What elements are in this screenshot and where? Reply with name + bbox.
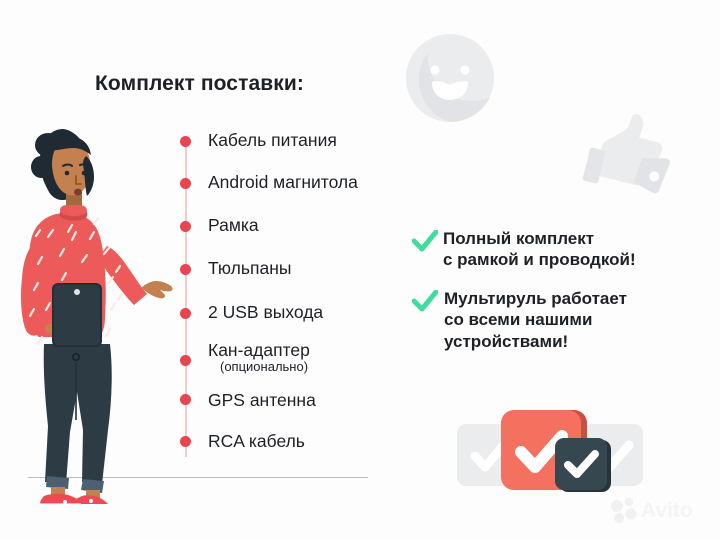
- list-item-label: 2 USB выхода: [208, 303, 323, 321]
- bullet-dot-icon: [180, 394, 191, 405]
- bullet-dot-icon: [180, 264, 191, 275]
- benefit-item: Мультируль работает со всеми нашими устр…: [412, 288, 682, 352]
- thumbs-up-icon: [570, 105, 674, 209]
- list-item: Кабель питания: [178, 131, 428, 173]
- benefit-label: Мультируль работает со всеми нашими устр…: [444, 288, 627, 352]
- list-item-label: GPS антенна: [208, 391, 316, 409]
- woman-pointing-illustration: [8, 104, 184, 504]
- list-item-label: Рамка: [208, 216, 259, 234]
- slide-canvas: Avito: [0, 0, 720, 540]
- smiley-face-icon: [402, 30, 498, 126]
- bullet-dot-icon: [180, 355, 191, 366]
- bullet-dot-icon: [180, 221, 191, 232]
- avito-logo: Avito: [608, 494, 712, 524]
- check-card-icons: [455, 404, 645, 496]
- list-item: 2 USB выхода: [178, 303, 428, 341]
- benefit-label: Полный комплект с рамкой и проводкой!: [443, 228, 636, 271]
- bullet-dot-icon: [180, 436, 191, 447]
- page-title: Комплект поставки:: [95, 72, 304, 96]
- bullet-dot-icon: [180, 136, 191, 147]
- svg-text:Avito: Avito: [641, 499, 693, 522]
- bullet-dot-icon: [180, 178, 191, 189]
- list-item-label: Android магнитола: [208, 173, 358, 191]
- green-check-icon: [412, 230, 438, 252]
- list-item-main-text: Кан-адаптер: [208, 340, 310, 360]
- list-item: Кан-адаптер (опционально): [178, 341, 428, 391]
- green-check-icon: [412, 290, 438, 312]
- list-item: GPS антенна: [178, 391, 428, 432]
- list-item: Рамка: [178, 216, 428, 259]
- list-item-sub-text: (опционально): [220, 360, 310, 374]
- list-item: Тюльпаны: [178, 259, 428, 303]
- list-item-label: Кабель питания: [208, 131, 337, 149]
- benefits-list: Полный комплект с рамкой и проводкой! Му…: [412, 228, 682, 352]
- bullet-dot-icon: [180, 308, 191, 319]
- benefit-item: Полный комплект с рамкой и проводкой!: [412, 228, 682, 271]
- list-item-label: Кан-адаптер (опционально): [208, 341, 310, 374]
- list-item-label: Тюльпаны: [208, 259, 291, 277]
- list-item: Android магнитола: [178, 173, 428, 216]
- kit-contents-list: Кабель питания Android магнитола Рамка Т…: [178, 131, 428, 468]
- list-item: RCA кабель: [178, 432, 428, 468]
- list-item-label: RCA кабель: [208, 432, 305, 450]
